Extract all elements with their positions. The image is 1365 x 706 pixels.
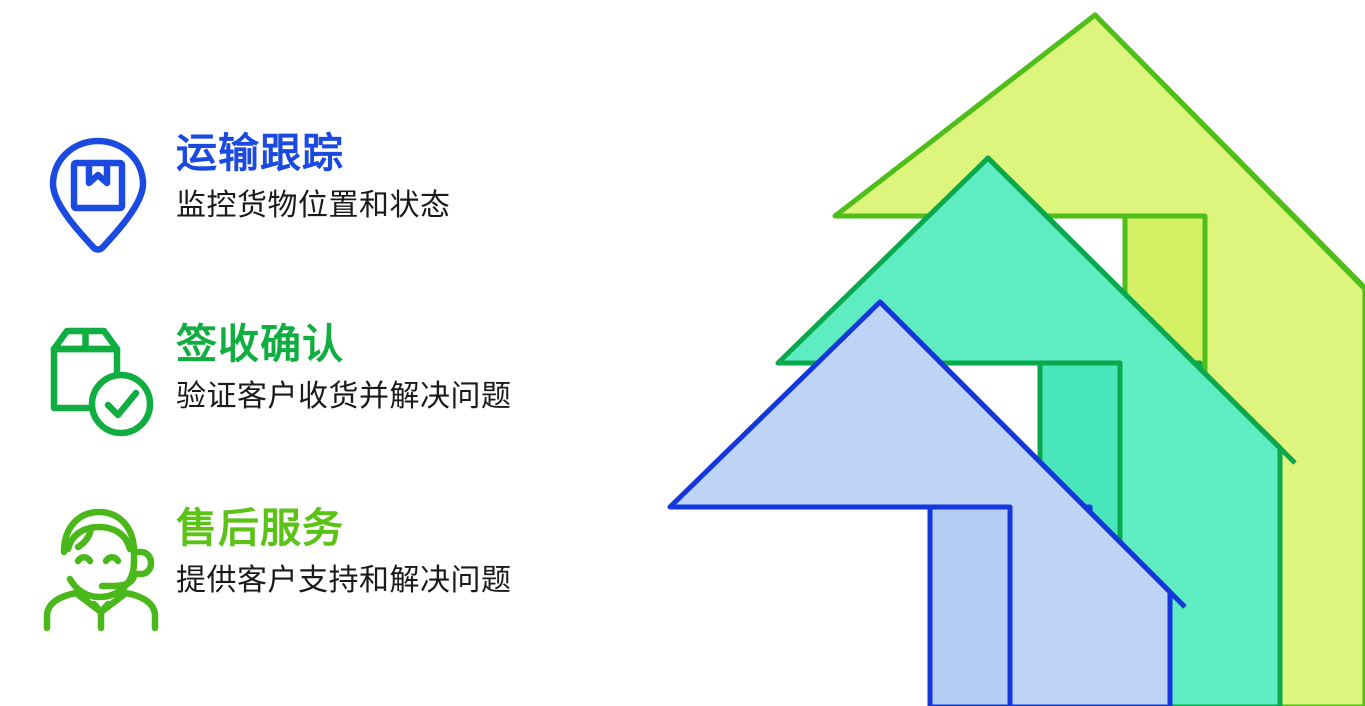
feature-description: 监控货物位置和状态 (176, 189, 451, 222)
slide-canvas: 运输跟踪 监控货物位置和状态 (0, 0, 1365, 706)
customer-support-headset-icon (42, 500, 160, 628)
feature-text-block: 售后服务 提供客户支持和解决问题 (160, 500, 512, 597)
package-check-icon (42, 318, 160, 446)
feature-description: 提供客户支持和解决问题 (176, 564, 512, 597)
feature-text-block: 签收确认 验证客户收货并解决问题 (160, 318, 512, 413)
feature-list: 运输跟踪 监控货物位置和状态 (0, 0, 660, 706)
feature-title: 售后服务 (176, 506, 512, 550)
feature-item-delivery-confirmation[interactable]: 签收确认 验证客户收货并解决问题 (42, 318, 512, 446)
feature-title: 签收确认 (176, 322, 512, 366)
feature-text-block: 运输跟踪 监控货物位置和状态 (160, 131, 451, 222)
feature-title: 运输跟踪 (176, 131, 451, 175)
feature-item-after-sales-service[interactable]: 售后服务 提供客户支持和解决问题 (42, 500, 512, 628)
feature-item-transport-tracking[interactable]: 运输跟踪 监控货物位置和状态 (42, 131, 451, 259)
growth-arrows-graphic (640, 0, 1365, 706)
location-pin-package-icon (42, 131, 160, 259)
feature-description: 验证客户收货并解决问题 (176, 380, 512, 413)
